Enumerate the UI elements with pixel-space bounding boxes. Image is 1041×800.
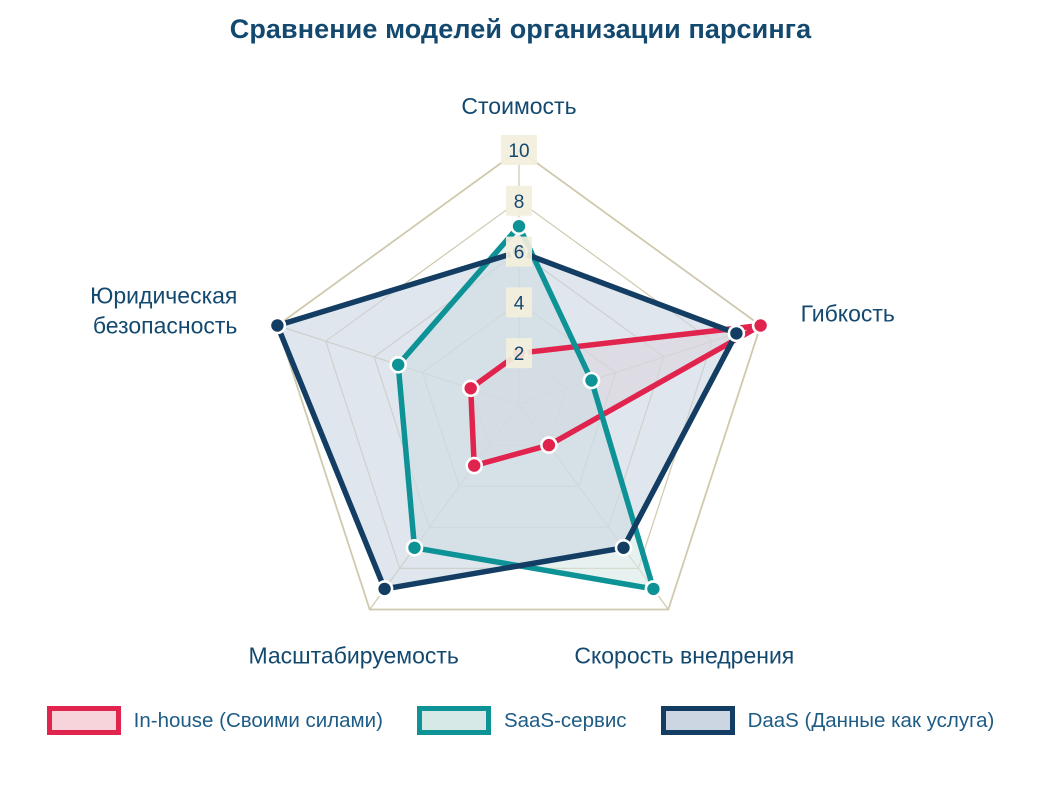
axis-label-line: безопасность — [93, 313, 238, 339]
axis-label-line: Масштабируемость — [248, 643, 458, 669]
radar-series-group — [270, 219, 768, 597]
legend-label-1: SaaS-сервис — [504, 709, 627, 733]
legend-swatch-0 — [47, 706, 121, 735]
data-point-2-4 — [270, 318, 285, 333]
axis-label-4: Юридическаябезопасность — [90, 283, 237, 339]
data-point-0-2 — [541, 438, 556, 453]
axis-label-2: Скорость внедрения — [574, 643, 794, 669]
data-point-0-4 — [463, 381, 478, 396]
tick-label-8: 8 — [514, 192, 525, 213]
data-point-1-4 — [391, 357, 406, 372]
data-point-1-2 — [646, 581, 661, 596]
data-point-1-3 — [407, 540, 422, 555]
axis-label-3: Масштабируемость — [248, 643, 458, 669]
chart-legend: In-house (Своими силами)SaaS-сервисDaaS … — [0, 706, 1041, 735]
data-point-2-2 — [616, 540, 631, 555]
tick-label-10: 10 — [508, 141, 529, 162]
legend-label-0: In-house (Своими силами) — [134, 709, 383, 733]
radar-chart-svg: 246810 СтоимостьГибкостьСкорость внедрен… — [0, 0, 1041, 800]
legend-item-2[interactable]: DaaS (Данные как услуга) — [661, 706, 995, 735]
legend-swatch-2 — [661, 706, 735, 735]
data-point-0-1 — [753, 318, 768, 333]
legend-item-0[interactable]: In-house (Своими силами) — [47, 706, 383, 735]
axis-label-line: Стоимость — [461, 93, 576, 119]
legend-swatch-1 — [417, 706, 491, 735]
tick-label-6: 6 — [514, 243, 525, 264]
data-point-2-1 — [729, 326, 744, 341]
tick-label-2: 2 — [514, 344, 525, 365]
axis-label-line: Юридическая — [90, 283, 237, 309]
legend-item-1[interactable]: SaaS-сервис — [417, 706, 627, 735]
legend-label-2: DaaS (Данные как услуга) — [748, 709, 995, 733]
axis-label-line: Скорость внедрения — [574, 643, 794, 669]
data-point-1-1 — [584, 373, 599, 388]
data-point-2-3 — [377, 581, 392, 596]
axis-label-0: Стоимость — [461, 93, 576, 119]
axis-label-1: Гибкость — [801, 301, 895, 327]
tick-label-4: 4 — [514, 293, 525, 314]
data-point-0-3 — [467, 458, 482, 473]
axis-label-line: Гибкость — [801, 301, 895, 327]
data-point-1-0 — [512, 219, 527, 234]
radar-chart-figure: Сравнение моделей организации парсинга 2… — [0, 0, 1041, 800]
